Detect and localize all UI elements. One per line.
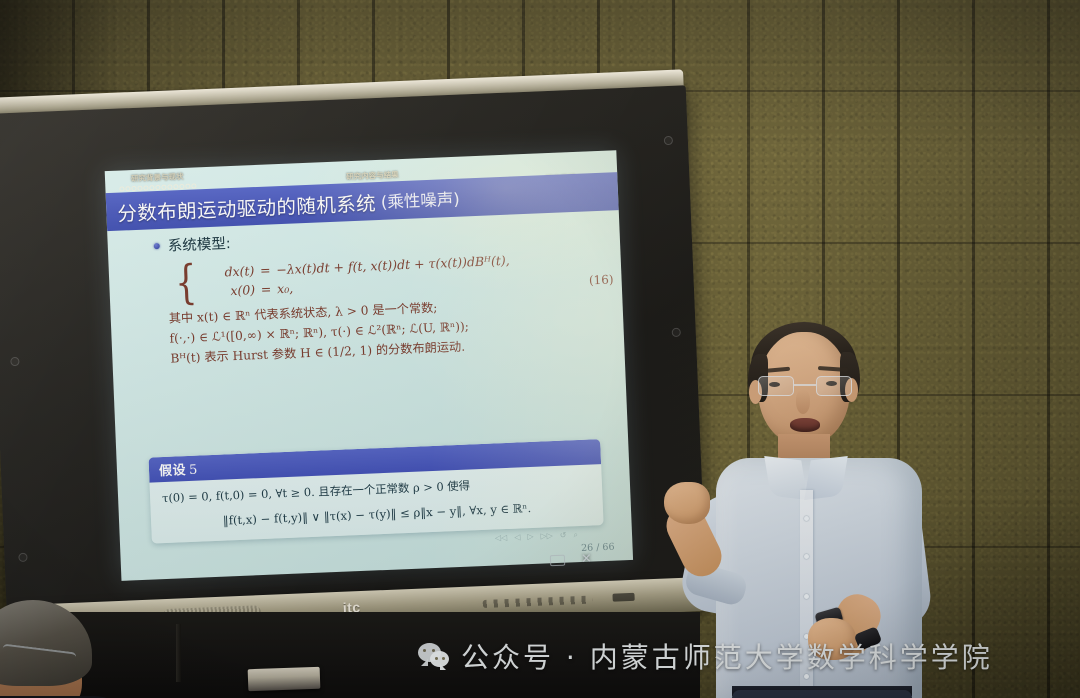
panel-sensor-left (10, 357, 19, 366)
nav-section-background-label: 研究背景与现状 (119, 170, 196, 184)
mic-stand (176, 624, 181, 682)
panel-sensor-bottomleft (18, 553, 27, 562)
nav-dot[interactable] (191, 183, 196, 188)
equation-row-rhs: x₀, (277, 281, 294, 297)
pdf-nav-toolbar[interactable]: ◁◁ ◁ ▷ ▷▷ ↺ ⌕ (495, 530, 578, 543)
equation-row-eq: = (254, 262, 277, 278)
equation-brace-icon: { (175, 264, 198, 302)
osd-controls[interactable]: ✕ (550, 552, 592, 569)
assumption-header-number: 5 (189, 463, 198, 478)
audience-hair (0, 600, 92, 686)
nav-dot[interactable] (185, 184, 190, 189)
nav-dot[interactable] (155, 185, 160, 190)
pdf-back-icon[interactable]: ↺ (560, 531, 567, 541)
assumption-header-label: 假设 (159, 463, 187, 479)
pdf-find-icon[interactable]: ⌕ (573, 530, 578, 540)
equation-row-lhs: dx(t) (202, 263, 255, 280)
equation-number: (16) (589, 272, 614, 287)
watermark-text: 公众号 · 内蒙古师范大学数学科学学院 (461, 636, 993, 676)
slide-title-sub: (乘性噪声) (380, 186, 460, 213)
wechat-icon (418, 643, 450, 669)
presenter-nose (796, 390, 810, 414)
close-icon[interactable]: ✕ (581, 552, 593, 567)
slide-body: 系统模型: { dx(t) = −λx(t)dt + f(t, x(t))dt … (107, 216, 624, 371)
panel-sensor-topright (664, 136, 673, 145)
presenter-trousers (732, 690, 912, 698)
nav-dot[interactable] (119, 186, 124, 191)
nav-dot[interactable] (131, 186, 136, 191)
nav-section-background[interactable]: 研究背景与现状 (119, 170, 196, 191)
audience-member (0, 600, 134, 698)
nav-dot[interactable] (125, 186, 130, 191)
bullet-dot-icon (154, 242, 160, 248)
slide-title-main: 分数布朗运动驱动的随机系统 (117, 187, 377, 227)
glasses-lens-left (758, 376, 794, 396)
shirt-button (804, 554, 809, 559)
nav-dot[interactable] (179, 184, 184, 189)
nav-dot[interactable] (173, 184, 178, 189)
shirt-button (804, 516, 809, 521)
pdf-first-icon[interactable]: ◁◁ (495, 533, 508, 543)
presenter-fist-left (664, 482, 710, 524)
lecture-photo: 研究背景与现状 研究内容与结果 研究展望 分数布朗运动驱动的随机系统 (0, 0, 1080, 698)
panel-usb-port[interactable] (612, 593, 634, 602)
shirt-button (804, 594, 809, 599)
pdf-last-icon[interactable]: ▷▷ (540, 531, 553, 541)
glasses-bridge (794, 384, 816, 386)
assumption-block: 假设5 τ(0) = 0, f(t,0) = 0, ∀t ≥ 0. 且存在一个正… (148, 439, 603, 544)
pdf-next-icon[interactable]: ▷ (527, 532, 534, 542)
nav-dot[interactable] (161, 185, 166, 190)
nav-dot[interactable] (167, 184, 172, 189)
nav-dot[interactable] (143, 185, 148, 190)
pdf-prev-icon[interactable]: ◁ (514, 532, 521, 542)
screenshot-icon[interactable] (550, 555, 565, 567)
presenter-mouth (790, 418, 820, 432)
bullet-system-model-label: 系统模型: (167, 232, 231, 256)
interactive-flat-panel[interactable]: 研究背景与现状 研究内容与结果 研究展望 分数布朗运动驱动的随机系统 (0, 79, 707, 627)
panel-bezel: 研究背景与现状 研究内容与结果 研究展望 分数布朗运动驱动的随机系统 (0, 85, 706, 613)
nav-dot[interactable] (149, 185, 154, 190)
nav-dot[interactable] (137, 186, 142, 191)
book-on-desk (248, 667, 321, 691)
equation-row-eq: = (255, 281, 278, 297)
glasses-lens-right (816, 376, 852, 396)
beamer-slide: 研究背景与现状 研究内容与结果 研究展望 分数布朗运动驱动的随机系统 (105, 150, 633, 581)
watermark: 公众号 · 内蒙古师范大学数学科学学院 (418, 636, 993, 676)
equation-row-lhs: x(0) (203, 282, 256, 299)
panel-control-buttons[interactable] (483, 596, 593, 609)
